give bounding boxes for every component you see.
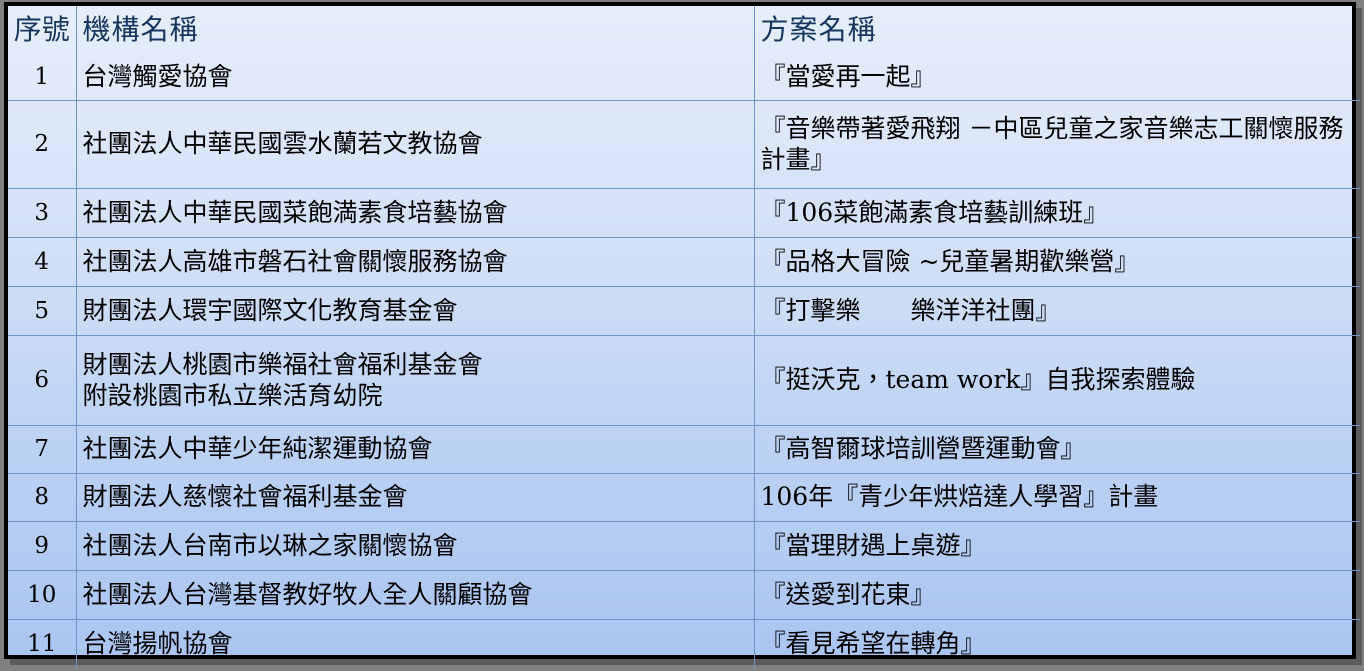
cell-program: 106年『青少年烘焙達人學習』計畫	[754, 474, 1360, 522]
table-body: 1 台灣觸愛協會 『當愛再一起』 2 社團法人中華民國雲水蘭若文教協會 『音樂帶…	[8, 54, 1360, 669]
table-row: 9 社團法人台南市以琳之家關懷協會 『當理財遇上桌遊』	[8, 522, 1360, 571]
cell-organization: 社團法人中華民國雲水蘭若文教協會	[76, 101, 754, 189]
cell-program: 『106菜飽滿素食培藝訓練班』	[754, 189, 1360, 238]
table-row: 7 社團法人中華少年純潔運動協會 『高智爾球培訓營暨運動會』	[8, 426, 1360, 474]
cell-sequence: 11	[8, 620, 76, 670]
cell-organization: 社團法人高雄市磐石社會關懷服務協會	[76, 238, 754, 287]
table-header: 序號 機構名稱 方案名稱	[8, 6, 1360, 54]
cell-organization: 社團法人中華少年純潔運動協會	[76, 426, 754, 474]
organization-program-table: 序號 機構名稱 方案名稱 1 台灣觸愛協會 『當愛再一起』 2 社團法人中華民國…	[8, 6, 1360, 669]
cell-sequence: 2	[8, 101, 76, 189]
column-header-program: 方案名稱	[754, 6, 1360, 54]
table-row: 4 社團法人高雄市磐石社會關懷服務協會 『品格大冒險 ~兒童暑期歡樂營』	[8, 238, 1360, 287]
cell-sequence: 10	[8, 571, 76, 620]
cell-organization: 財團法人環宇國際文化教育基金會	[76, 287, 754, 336]
cell-sequence: 1	[8, 54, 76, 101]
cell-organization: 社團法人台灣基督教好牧人全人關顧協會	[76, 571, 754, 620]
cell-program: 『打擊樂 樂洋洋社團』	[754, 287, 1360, 336]
cell-program: 『品格大冒險 ~兒童暑期歡樂營』	[754, 238, 1360, 287]
table-row: 3 社團法人中華民國菜飽満素食培藝協會 『106菜飽滿素食培藝訓練班』	[8, 189, 1360, 238]
column-header-organization: 機構名稱	[76, 6, 754, 54]
table-header-row: 序號 機構名稱 方案名稱	[8, 6, 1360, 54]
table-row: 6 財團法人桃園市樂福社會福利基金會 附設桃園市私立樂活育幼院 『挺沃克，tea…	[8, 336, 1360, 426]
cell-program: 『送愛到花東』	[754, 571, 1360, 620]
cell-organization: 社團法人台南市以琳之家關懷協會	[76, 522, 754, 571]
cell-sequence: 6	[8, 336, 76, 426]
cell-organization: 台灣觸愛協會	[76, 54, 754, 101]
cell-sequence: 7	[8, 426, 76, 474]
cell-sequence: 4	[8, 238, 76, 287]
cell-program: 『看見希望在轉角』	[754, 620, 1360, 670]
cell-organization: 財團法人桃園市樂福社會福利基金會 附設桃園市私立樂活育幼院	[76, 336, 754, 426]
cell-organization: 社團法人中華民國菜飽満素食培藝協會	[76, 189, 754, 238]
cell-sequence: 8	[8, 474, 76, 522]
table-row: 11 台灣揚帆協會 『看見希望在轉角』	[8, 620, 1360, 670]
cell-program: 『音樂帶著愛飛翔 －中區兒童之家音樂志工關懷服務計畫』	[754, 101, 1360, 189]
cell-program: 『挺沃克，team work』自我探索體驗	[754, 336, 1360, 426]
cell-sequence: 9	[8, 522, 76, 571]
table-row: 5 財團法人環宇國際文化教育基金會 『打擊樂 樂洋洋社團』	[8, 287, 1360, 336]
cell-organization: 台灣揚帆協會	[76, 620, 754, 670]
table-row: 2 社團法人中華民國雲水蘭若文教協會 『音樂帶著愛飛翔 －中區兒童之家音樂志工關…	[8, 101, 1360, 189]
table-row: 10 社團法人台灣基督教好牧人全人關顧協會 『送愛到花東』	[8, 571, 1360, 620]
table-row: 1 台灣觸愛協會 『當愛再一起』	[8, 54, 1360, 101]
cell-sequence: 3	[8, 189, 76, 238]
cell-program: 『當愛再一起』	[754, 54, 1360, 101]
cell-program: 『高智爾球培訓營暨運動會』	[754, 426, 1360, 474]
cell-organization: 財團法人慈懷社會福利基金會	[76, 474, 754, 522]
cell-program: 『當理財遇上桌遊』	[754, 522, 1360, 571]
cell-sequence: 5	[8, 287, 76, 336]
table-frame: 序號 機構名稱 方案名稱 1 台灣觸愛協會 『當愛再一起』 2 社團法人中華民國…	[4, 2, 1356, 659]
column-header-sequence: 序號	[8, 6, 76, 54]
table-row: 8 財團法人慈懷社會福利基金會 106年『青少年烘焙達人學習』計畫	[8, 474, 1360, 522]
